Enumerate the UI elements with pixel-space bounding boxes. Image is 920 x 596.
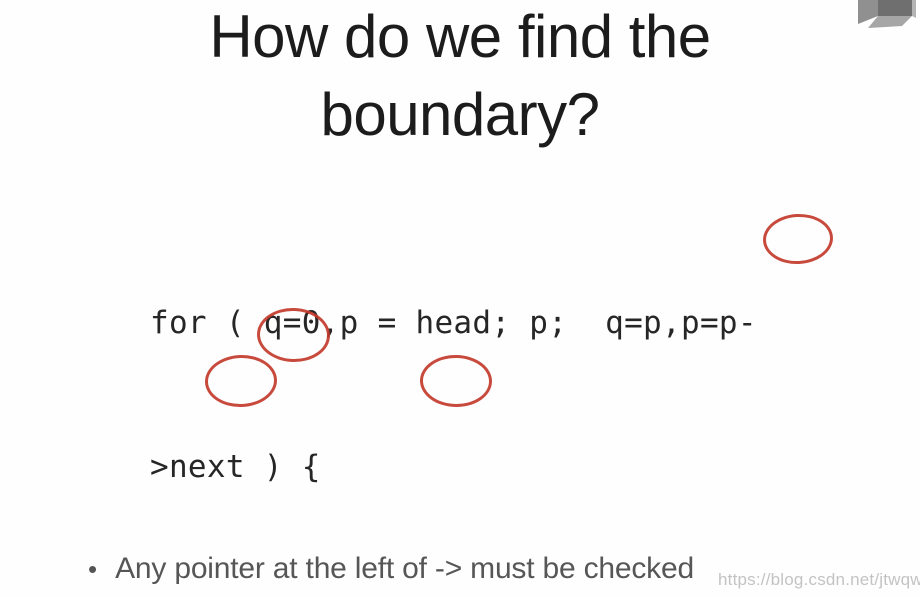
bullet-marker-icon: • [88,556,97,582]
page-title-line-2: boundary? [0,76,920,154]
red-circle-annotation-p-assign [762,212,835,266]
red-circle-annotation-p-next [420,354,493,407]
code-line: >next ) { [150,443,890,491]
page-title-line-1: How do we find the [0,0,920,76]
bullet-item-text: Any pointer at the left of -> must be ch… [115,552,694,586]
watermark-text: https://blog.csdn.net/jtwqwq [718,570,920,590]
slide-canvas: How do we find the boundary? for ( q=0,p… [0,0,920,596]
code-line: for ( q=0,p = head; p; q=p,p=p- [150,299,890,347]
page-title: How do we find the boundary? [0,0,920,154]
code-block: for ( q=0,p = head; p; q=p,p=p- >next ) … [150,203,890,596]
bullet-item: • Any pointer at the left of -> must be … [88,552,694,586]
red-circle-annotation-q-next [204,354,278,408]
